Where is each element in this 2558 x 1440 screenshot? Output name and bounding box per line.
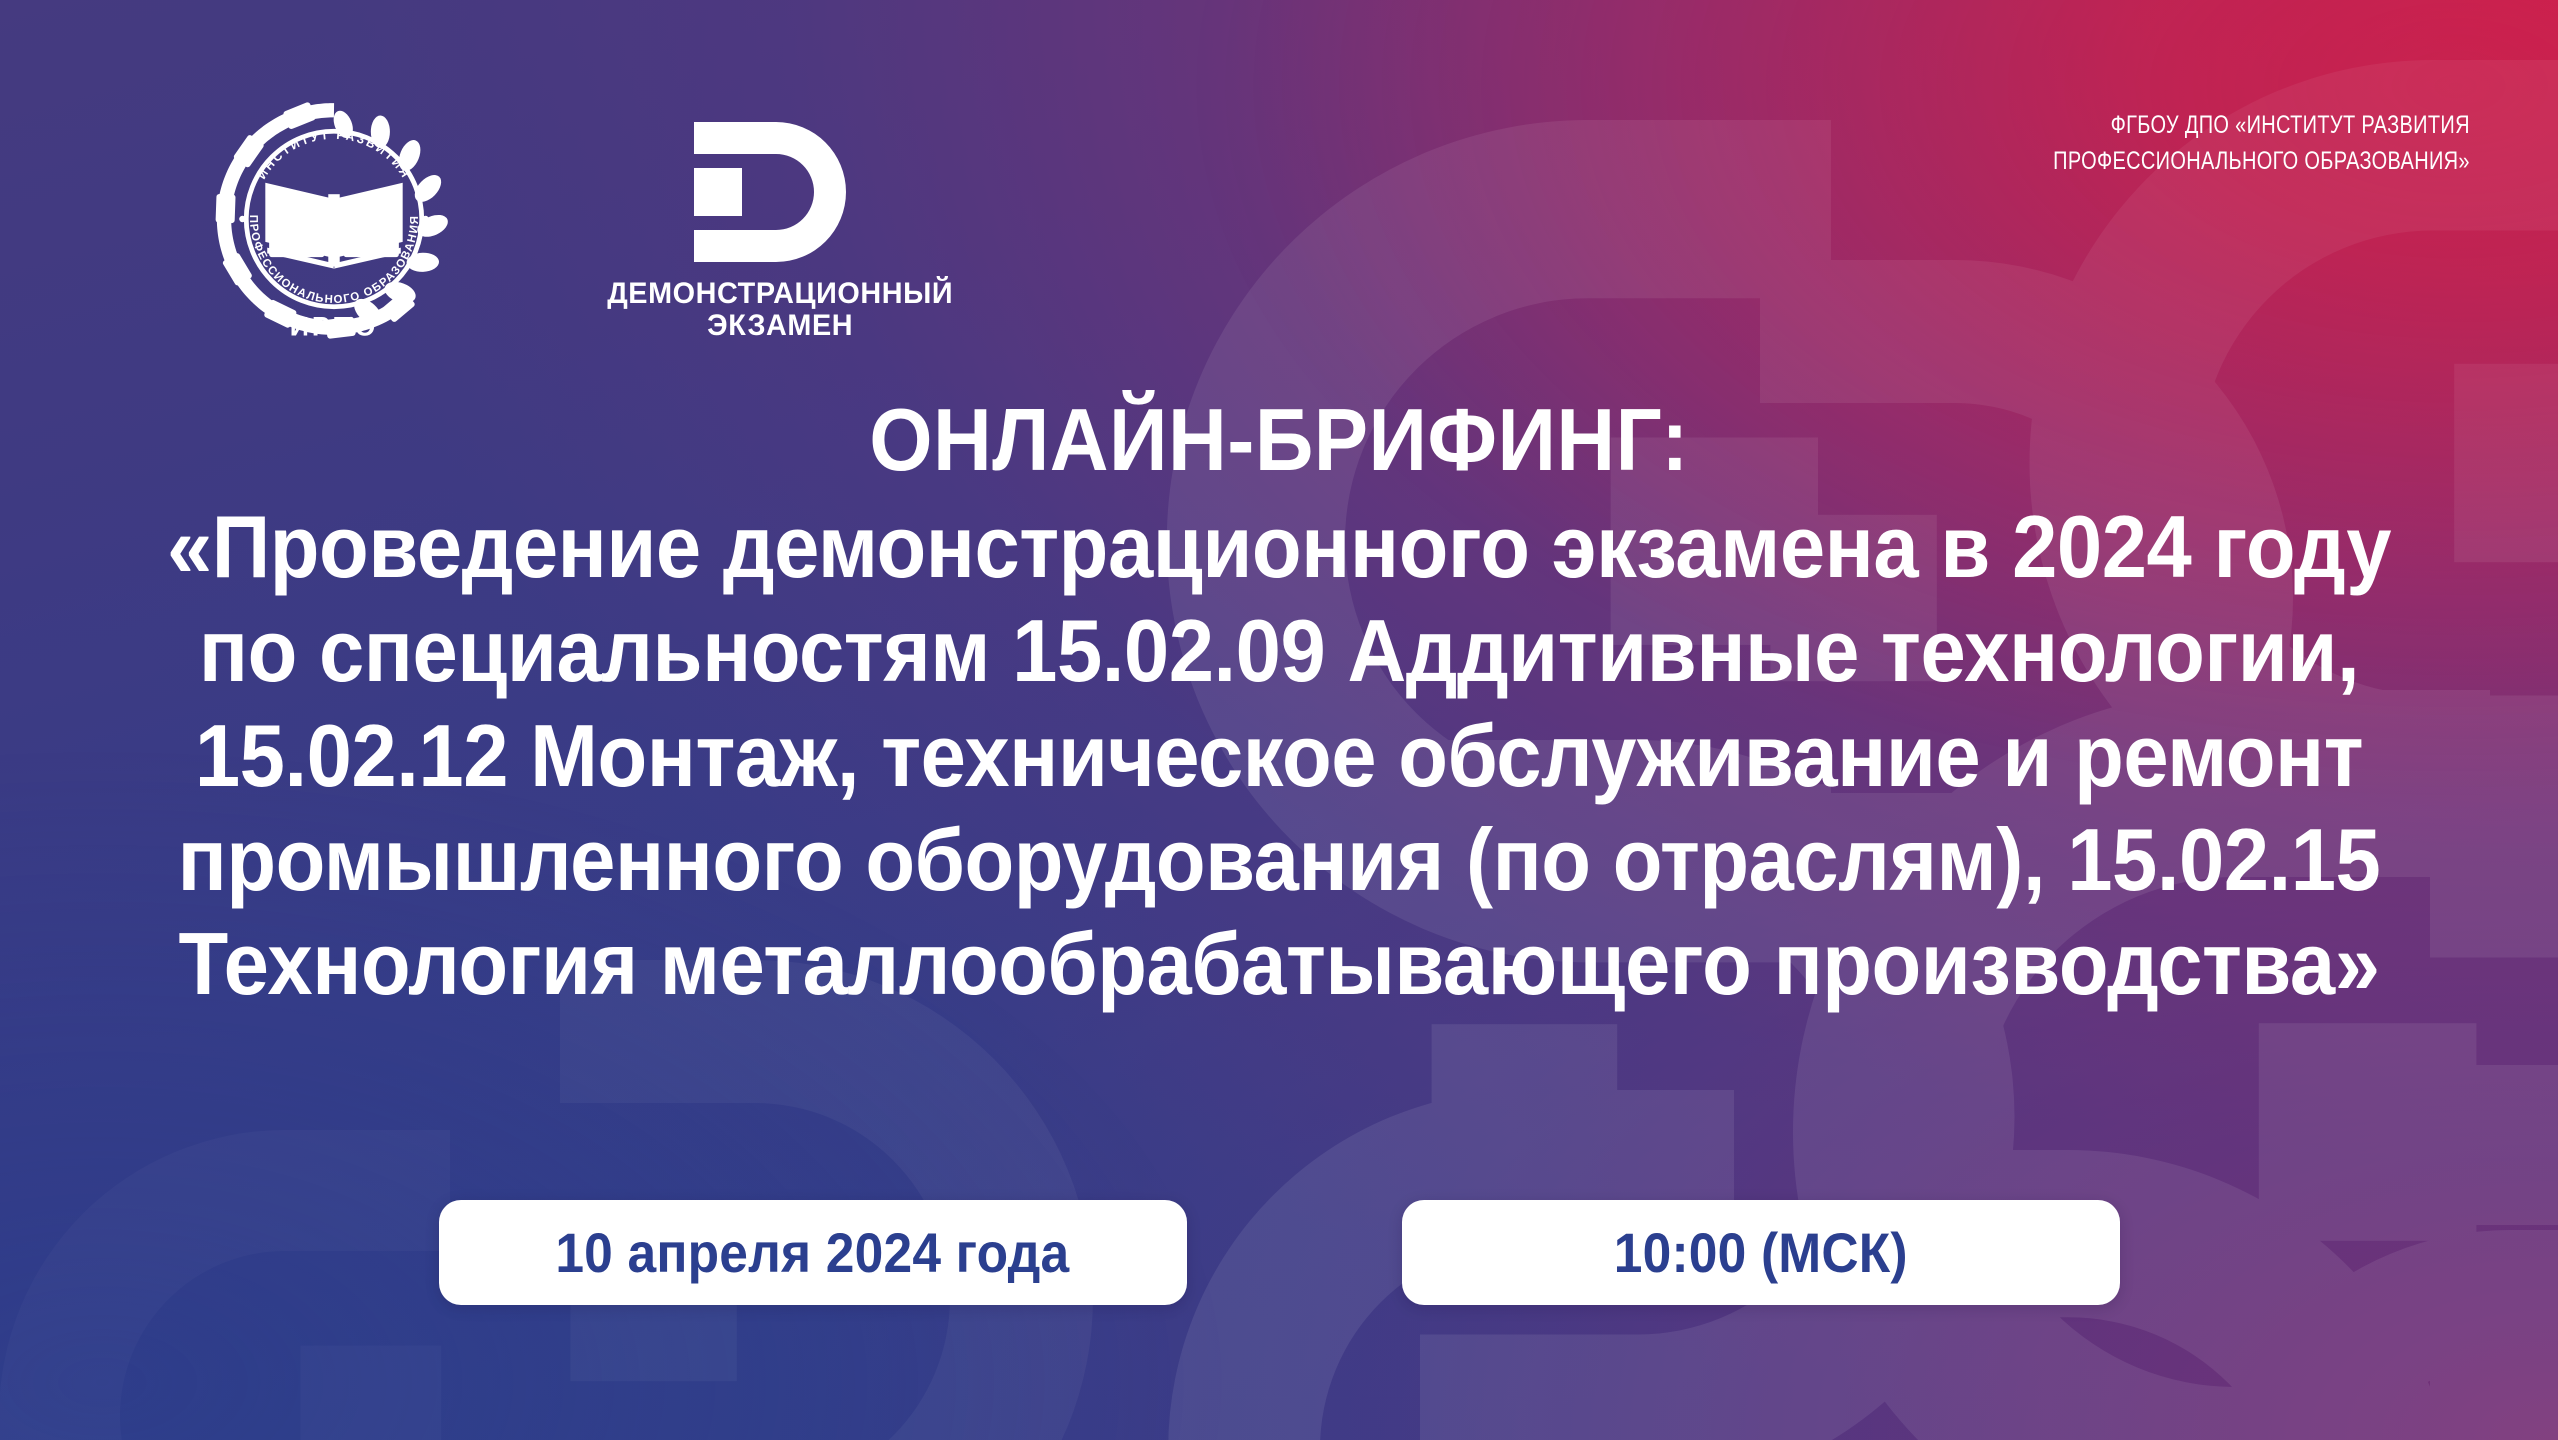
organization-name-line1: ФГБОУ ДПО «ИНСТИТУТ РАЗВИТИЯ <box>2053 108 2470 144</box>
irpo-emblem-icon: ИНСТИТУТ РАЗВИТИЯ ПРОФЕССИОНАЛЬНОГО ОБРА… <box>210 95 458 343</box>
date-badge: 10 апреля 2024 года <box>439 1200 1187 1305</box>
headline-line-3: 15.02.12 Монтаж, техническое обслуживани… <box>103 704 2454 808</box>
time-badge-label: 10:00 (МСК) <box>1614 1220 1908 1285</box>
time-badge: 10:00 (МСК) <box>1402 1200 2120 1305</box>
demo-exam-caption-line2: ЭКЗАМЕН <box>607 310 953 342</box>
demo-exam-caption-line1: ДЕМОНСТРАЦИОННЫЙ <box>607 278 953 310</box>
organization-name: ФГБОУ ДПО «ИНСТИТУТ РАЗВИТИЯ ПРОФЕССИОНА… <box>2053 108 2470 179</box>
badge-row: 10 апреля 2024 года 10:00 (МСК) <box>0 1200 2558 1305</box>
headline-line-4: промышленного оборудования (по отраслям)… <box>103 808 2454 912</box>
demo-exam-mark-icon <box>680 118 880 266</box>
date-badge-label: 10 апреля 2024 года <box>556 1220 1070 1285</box>
poster-canvas: ИНСТИТУТ РАЗВИТИЯ ПРОФЕССИОНАЛЬНОГО ОБРА… <box>0 0 2558 1440</box>
headline-line-5: Технология металлообрабатывающего произв… <box>103 912 2454 1016</box>
organization-name-line2: ПРОФЕССИОНАЛЬНОГО ОБРАЗОВАНИЯ» <box>2053 144 2470 180</box>
event-kicker: ОНЛАЙН-БРИФИНГ: <box>96 392 2462 487</box>
open-book-icon <box>265 183 402 269</box>
irpo-abbreviation: ИРПО <box>290 311 378 341</box>
demo-exam-caption: ДЕМОНСТРАЦИОННЫЙ ЭКЗАМЕН <box>607 278 953 342</box>
headline-line-1: «Проведение демонстрационного экзамена в… <box>103 495 2454 599</box>
title-block: ОНЛАЙН-БРИФИНГ: «Проведение демонстрацио… <box>96 392 2462 1016</box>
event-headline: «Проведение демонстрационного экзамена в… <box>96 495 2462 1016</box>
headline-line-2: по специальностям 15.02.09 Аддитивные те… <box>103 599 2454 703</box>
demo-exam-logo: ДЕМОНСТРАЦИОННЫЙ ЭКЗАМЕН <box>600 118 960 348</box>
